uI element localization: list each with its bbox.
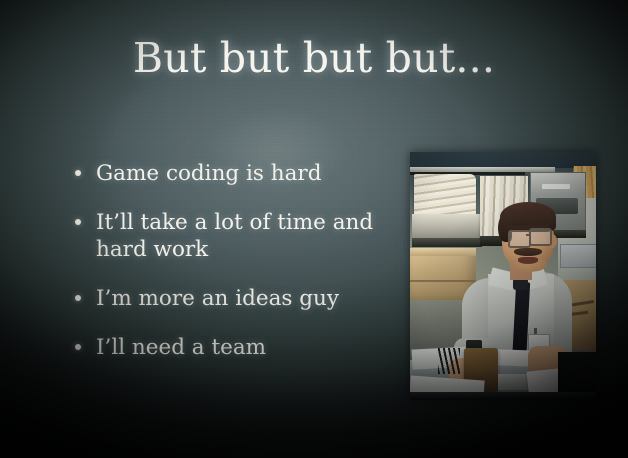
bullet-dot-icon: [75, 219, 81, 225]
list-item: Game coding is hard: [68, 160, 398, 187]
list-item-label: I’ll need a team: [96, 335, 266, 360]
presentation-slide: But but but but... Game coding is hard I…: [0, 0, 628, 458]
list-item: I’ll need a team: [68, 334, 398, 361]
list-item: I’m more an ideas guy: [68, 285, 398, 312]
slide-photo: [410, 152, 596, 400]
list-item: It’ll take a lot of time and hard work: [68, 209, 398, 263]
list-item-label: I’m more an ideas guy: [96, 286, 339, 311]
page-title: But but but but...: [0, 34, 628, 82]
list-item-label: It’ll take a lot of time and hard work: [96, 210, 373, 262]
bullet-list: Game coding is hard It’ll take a lot of …: [68, 160, 398, 361]
list-item-label: Game coding is hard: [96, 161, 321, 186]
bullet-dot-icon: [75, 344, 81, 350]
bullet-dot-icon: [75, 170, 81, 176]
photo-vignette: [410, 152, 596, 400]
bullet-dot-icon: [75, 295, 81, 301]
